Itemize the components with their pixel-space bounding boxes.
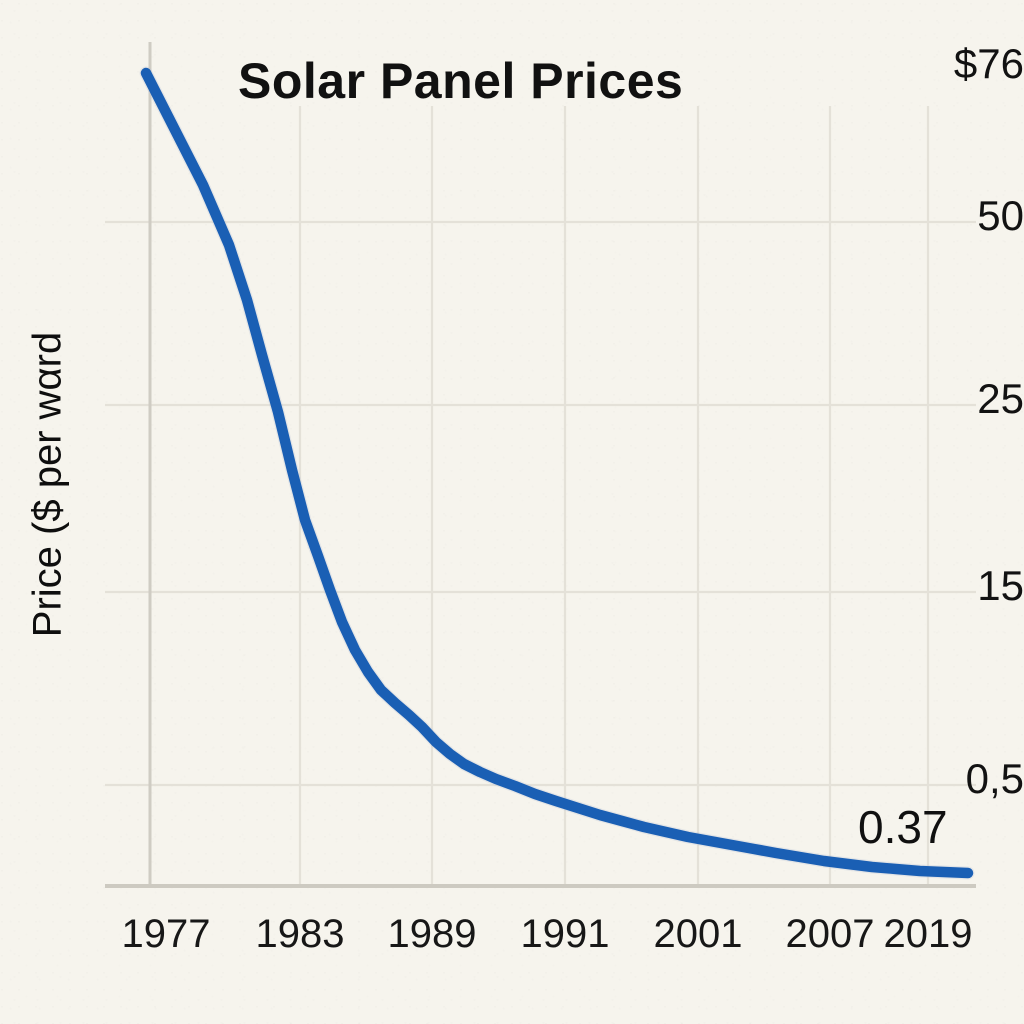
y-tick-label-25: 25 [894,375,1024,423]
y-axis-title: Price ($ per wαrd [26,285,71,685]
plot-area [0,0,1024,1024]
end-value-annotation: 0.37 [858,800,948,854]
y-tick-label-76: $76 [894,40,1024,88]
x-tick-label-2019: 2019 [848,912,1008,957]
data-series-group [146,73,968,873]
horizontal-gridlines [105,222,976,785]
y-tick-label-0-5: 0,5 [894,755,1024,803]
y-tick-label-15: 15 [894,562,1024,610]
chart-title: Solar Panel Prices [238,52,683,110]
y-tick-label-50: 50 [894,192,1024,240]
data-line-shadow [146,73,968,873]
chart-canvas: Solar Panel Prices Price ($ per wαrd $76… [0,0,1024,1024]
data-line [146,73,968,873]
